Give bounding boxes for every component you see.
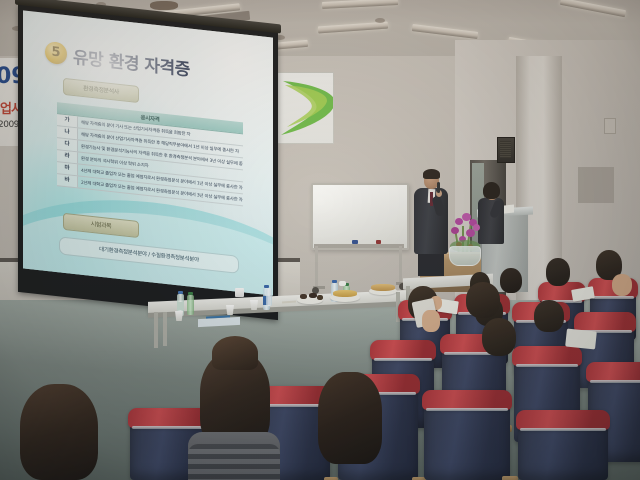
seat-headrest — [516, 410, 610, 430]
food-item — [333, 290, 357, 297]
seat-headrest — [512, 346, 582, 366]
food-item — [371, 284, 395, 291]
audience-head-placeholder — [226, 302, 256, 320]
audience-head — [482, 318, 516, 356]
projection-screen-frame: 5 유망 환경 자격증 환경측정분석사 응시자격 가 해당 자격증의 분야 기사… — [18, 4, 278, 320]
seat-trim — [516, 364, 578, 367]
whiteboard-leg — [315, 246, 318, 290]
auditorium-seat[interactable] — [424, 400, 510, 480]
audience-hair — [212, 336, 258, 370]
wall-speaker-icon — [497, 137, 515, 163]
food-item — [309, 293, 317, 298]
slide-number-badge: 5 — [45, 41, 67, 65]
microphone-icon — [437, 182, 440, 193]
seat-trim — [590, 380, 640, 383]
slide-table: 응시자격 가 해당 자격증의 분야 기사 또는 산업기사자격증 취득을 희망한 … — [57, 102, 243, 206]
table-leg — [163, 312, 167, 346]
row-key: 나 — [57, 126, 78, 139]
green-swoosh-icon — [279, 77, 334, 139]
bottle-label — [177, 302, 184, 310]
audience-head — [466, 282, 500, 318]
bottle-cap — [188, 292, 193, 295]
seat-trim — [374, 358, 432, 361]
seat-headrest — [422, 390, 512, 410]
table-leg — [154, 312, 158, 348]
bottle-cap — [178, 291, 183, 294]
seat-trim — [426, 408, 508, 411]
projection-screen: 5 유망 환경 자격증 환경측정분석사 응시자격 가 해당 자격증의 분야 기사… — [23, 10, 273, 295]
whiteboard-magnet — [352, 240, 358, 244]
food-item — [317, 295, 323, 300]
ceiling-light — [560, 0, 626, 17]
raised-hand — [422, 310, 440, 332]
audience-sweater-stripes — [188, 444, 280, 480]
row-key: 마 — [57, 162, 78, 175]
row-key: 가 — [57, 114, 78, 127]
seat-headrest — [370, 340, 436, 360]
whiteboard-magnet — [376, 240, 381, 244]
row-key: 바 — [57, 174, 78, 187]
water-bottle — [266, 288, 272, 306]
audience-head-foreground — [20, 384, 98, 480]
seat-armrest — [502, 476, 518, 480]
row-key: 라 — [57, 150, 78, 163]
wall-panel — [578, 167, 614, 203]
food-item — [300, 294, 307, 299]
paper-cup — [235, 288, 244, 297]
handout-paper — [565, 328, 597, 349]
speaker-hair — [423, 169, 440, 179]
whiteboard — [311, 183, 409, 250]
whiteboard-marker-tray — [314, 244, 404, 248]
paper-cup — [339, 281, 346, 286]
audience-face — [612, 274, 632, 296]
audience-head-foreground — [318, 372, 382, 464]
seat-headrest — [574, 312, 636, 332]
audience-head — [546, 258, 570, 286]
lecture-hall-photo: 수회 전략토론 교 환경정책과 09 업시 2009. 11. 5 유망 환경 … — [0, 0, 640, 480]
orchid-vase — [449, 246, 481, 266]
ceiling-vent — [375, 18, 385, 23]
whiteboard-leg — [399, 246, 402, 286]
green-bottle — [187, 295, 194, 315]
paper-cup — [175, 311, 183, 321]
audience-head — [534, 300, 564, 332]
slide-title: 유망 환경 자격증 — [73, 43, 190, 81]
podium-person-hair — [483, 182, 500, 199]
seat-back — [424, 400, 510, 480]
ceiling-light — [318, 22, 388, 34]
seat-trim — [592, 296, 634, 299]
bottle-cap — [332, 280, 337, 283]
auditorium-seat[interactable] — [518, 420, 608, 480]
ceiling-light — [412, 24, 478, 39]
seat-headrest — [586, 362, 640, 382]
row-key: 다 — [57, 138, 78, 151]
ceiling-smoke-detector — [150, 1, 178, 10]
slide-pill-top: 환경측정분석사 — [63, 78, 139, 103]
seat-trim — [520, 428, 606, 431]
ceiling-light — [322, 0, 398, 9]
audience-head — [500, 268, 522, 293]
wall-control-box[interactable] — [604, 118, 616, 134]
